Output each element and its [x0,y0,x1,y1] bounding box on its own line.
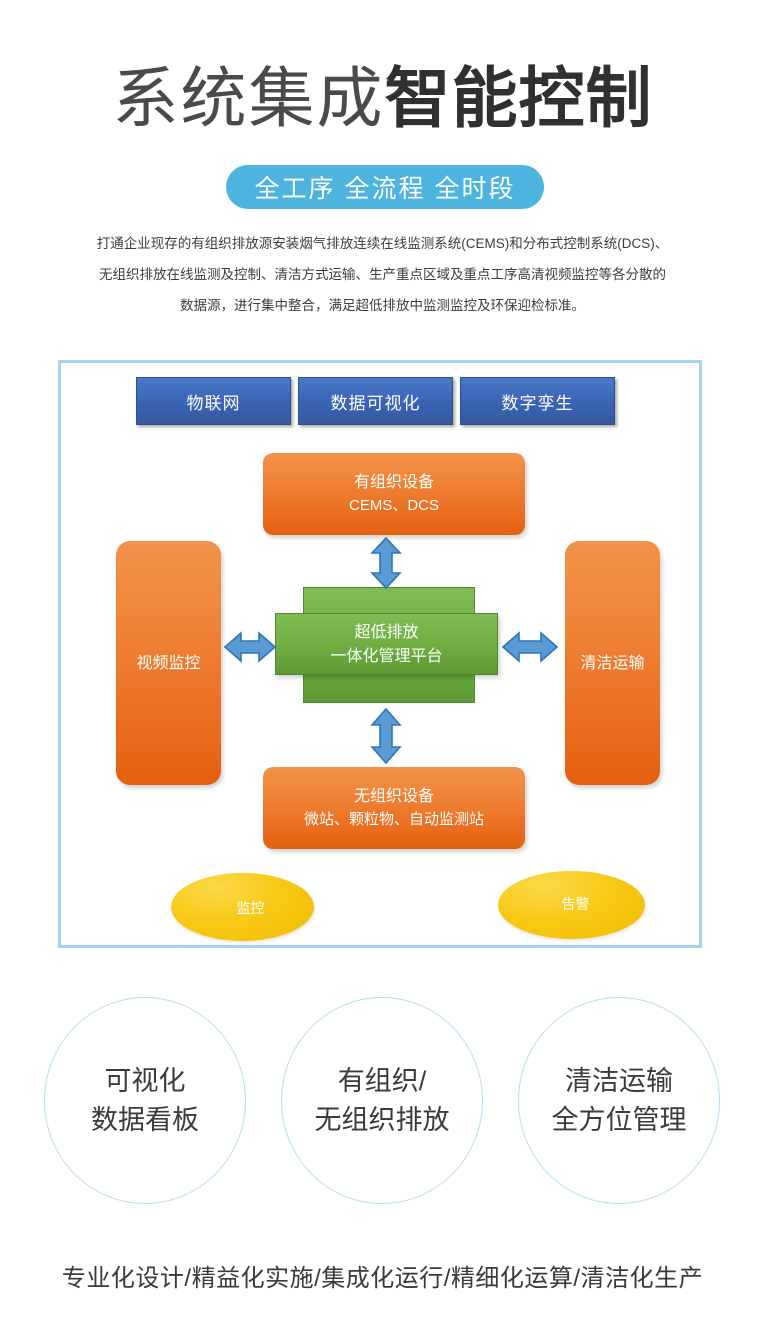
diagram-ellipse-alarm: 告警 [498,871,645,939]
platform-label: 超低排放 一体化管理平台 [275,587,498,703]
feature-circle-2-line-1: 有组织/ [338,1062,427,1101]
diagram-node-unorganized-equipment: 无组织设备 微站、颗粒物、自动监测站 [263,767,525,849]
organized-equipment-line-1: 有组织设备 [349,471,439,494]
feature-circle-1-line-2: 数据看板 [91,1101,199,1140]
footer-slogan: 专业化设计/精益化实施/集成化运行/精细化运算/清洁化生产 [0,1258,765,1293]
feature-circle-3-line-2: 全方位管理 [552,1101,687,1140]
description-line-2: 无组织排放在线监测及控制、清洁方式运输、生产重点区域及重点工序高清视频监控等各分… [52,259,713,290]
feature-circles: 可视化 数据看板 有组织/ 无组织排放 清洁运输 全方位管理 [0,997,765,1207]
feature-circle-3-line-1: 清洁运输 [565,1062,673,1101]
diagram-box-digital-twin: 数字孪生 [460,377,615,425]
arrow-up-down-top [370,537,402,589]
feature-circle-2-line-2: 无组织排放 [315,1101,450,1140]
architecture-diagram: 物联网 数据可视化 数字孪生 有组织设备 CEMS、DCS 无组织设备 微站、颗… [58,360,702,948]
page-title-light: 系统集成 [113,61,385,135]
diagram-node-clean-transport: 清洁运输 [565,541,660,785]
diagram-ellipse-monitoring: 监控 [171,873,314,941]
subtitle-badge: 全工序 全流程 全时段 [226,165,544,209]
feature-circle-emissions: 有组织/ 无组织排放 [281,997,483,1204]
arrow-left-right-right [502,631,558,663]
diagram-box-iot: 物联网 [136,377,291,425]
ellipse-monitoring-label: 监控 [237,898,265,918]
description-line-3: 数据源，进行集中整合，满足超低排放中监测监控及环保迎检标准。 [52,290,713,321]
ellipse-alarm-label: 告警 [562,894,590,914]
feature-circle-visualization: 可视化 数据看板 [44,997,246,1204]
platform-line-2: 一体化管理平台 [330,645,442,669]
description-paragraph: 打通企业现存的有组织排放源安装烟气排放连续在线监测系统(CEMS)和分布式控制系… [52,228,713,321]
page-title: 系统集成智能控制 [0,58,765,138]
unorganized-equipment-line-1: 无组织设备 [304,785,484,808]
organized-equipment-line-2: CEMS、DCS [349,494,439,517]
diagram-box-data-visualization: 数据可视化 [298,377,453,425]
arrow-up-down-bottom [370,708,402,764]
unorganized-equipment-line-2: 微站、颗粒物、自动监测站 [304,808,484,831]
description-line-1: 打通企业现存的有组织排放源安装烟气排放连续在线监测系统(CEMS)和分布式控制系… [52,228,713,259]
diagram-node-organized-equipment: 有组织设备 CEMS、DCS [263,453,525,535]
platform-line-1: 超低排放 [354,621,418,645]
page-root: 系统集成智能控制 全工序 全流程 全时段 打通企业现存的有组织排放源安装烟气排放… [0,0,765,1327]
diagram-node-platform: 超低排放 一体化管理平台 [275,587,498,703]
feature-circle-1-line-1: 可视化 [105,1062,186,1101]
arrow-left-right-left [224,631,276,663]
diagram-node-video-monitoring: 视频监控 [116,541,221,785]
feature-circle-transport: 清洁运输 全方位管理 [518,997,720,1204]
page-title-bold: 智能控制 [385,61,653,135]
